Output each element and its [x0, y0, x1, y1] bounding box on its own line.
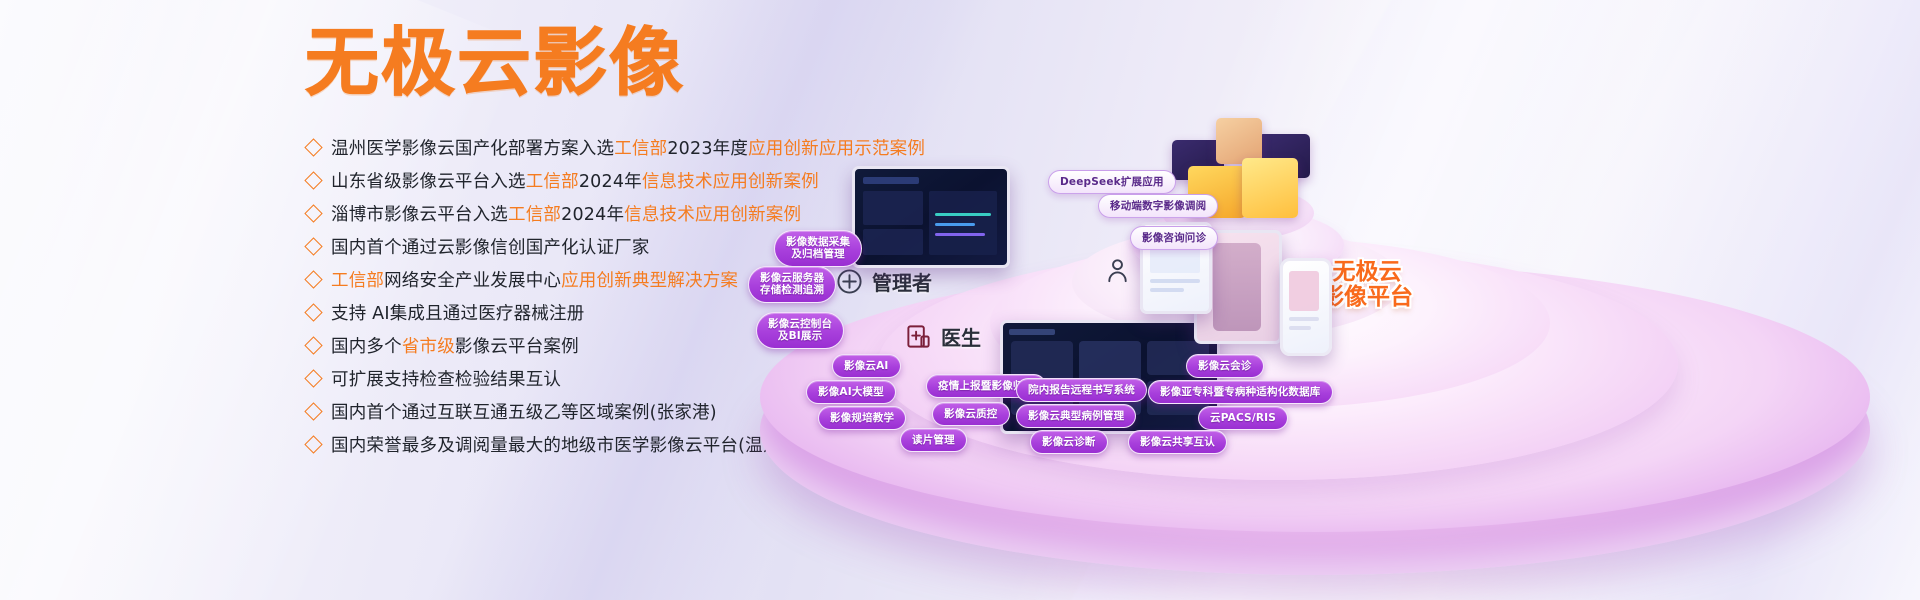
pill-deepseek[interactable]: DeepSeek扩展应用 [1048, 170, 1176, 194]
achievement-text: 国内首个通过互联互通五级乙等区域案例(张家港) [331, 399, 717, 424]
diamond-bullet-icon [304, 369, 322, 387]
diamond-bullet-icon [304, 138, 322, 156]
pill-data-collect[interactable]: 影像数据采集 及归档管理 [774, 230, 862, 267]
text-segment: 2024年 [561, 205, 624, 225]
pill-label-line-1: 云PACS/RIS [1210, 412, 1276, 424]
pill-label-line-1: 影像云质控 [944, 408, 998, 420]
pill-label-line-1: 院内报告远程书写系统 [1028, 384, 1135, 396]
page-title: 无极云影像 [305, 26, 685, 100]
stack-building-right-icon [1242, 158, 1298, 218]
platform-architecture-diagram: 无极云 影像平台 管理者 患者 医生 [700, 130, 1920, 600]
pill-label-line-2: 及归档管理 [786, 248, 850, 260]
achievement-text: 国内多个省市级影像云平台案例 [331, 333, 579, 358]
pill-cloud-ai[interactable]: 影像云AI [832, 354, 901, 378]
achievement-text: 国内首个通过云影像信创国产化认证厂家 [331, 234, 650, 259]
text-segment: 工信部 [331, 271, 384, 291]
diamond-bullet-icon [304, 435, 322, 453]
doctor-record-icon [905, 323, 932, 350]
pill-server-trace[interactable]: 影像云服务器 存储检测追溯 [748, 266, 836, 303]
text-segment: 国内首个通过云影像信创国产化认证厂家 [331, 238, 650, 258]
pill-label-line-1: 影像云控制台 [768, 318, 832, 330]
pill-label-line-1: 影像云服务器 [760, 272, 824, 284]
pill-label-line-1: 影像云会诊 [1198, 360, 1252, 372]
text-segment: 支持 AI集成且通过医疗器械注册 [331, 304, 584, 324]
text-segment: 国内首个通过互联互通五级乙等区域案例(张家港) [331, 403, 717, 423]
pill-label-line-2: 存储检测追溯 [760, 284, 824, 296]
pill-diagnosis[interactable]: 影像云诊断 [1030, 430, 1108, 454]
text-segment: 淄博市影像云平台入选 [331, 205, 508, 225]
center-label-line-2: 影像平台 [1321, 284, 1413, 310]
pill-quality-control[interactable]: 影像云质控 [932, 402, 1010, 426]
pill-share-mutual[interactable]: 影像云共享互认 [1128, 430, 1227, 454]
pill-label-line-1: DeepSeek扩展应用 [1060, 176, 1164, 188]
role-label: 医生 [941, 322, 981, 351]
achievement-text: 支持 AI集成且通过医疗器械注册 [331, 300, 584, 325]
text-segment: 影像云平台案例 [455, 337, 579, 357]
pill-case-manage[interactable]: 影像云典型病例管理 [1016, 404, 1136, 428]
text-segment: 2024年 [579, 172, 642, 192]
diamond-bullet-icon [304, 204, 322, 222]
center-label-line-1: 无极云 [1333, 259, 1402, 285]
pill-label-line-1: 影像咨询问诊 [1142, 232, 1206, 244]
pill-label-line-1: 影像AI大模型 [818, 386, 884, 398]
pill-pacs-ris[interactable]: 云PACS/RIS [1198, 406, 1288, 430]
diamond-bullet-icon [304, 270, 322, 288]
pill-remote-report[interactable]: 院内报告远程书写系统 [1016, 378, 1147, 402]
achievement-text: 工信部网络安全产业发展中心应用创新典型解决方案 [331, 267, 738, 292]
text-segment: 温州医学影像云国产化部署方案入选 [331, 139, 614, 159]
text-segment: 工信部 [508, 205, 561, 225]
pill-label-line-1: 影像云典型病例管理 [1028, 410, 1124, 422]
text-segment: 工信部 [526, 172, 579, 192]
admin-plus-icon [836, 268, 863, 295]
pill-joint-consult[interactable]: 影像云会诊 [1186, 354, 1264, 378]
pill-ai-model[interactable]: 影像AI大模型 [806, 380, 896, 404]
pill-label-line-1: 影像规培教学 [830, 412, 894, 424]
banner-stage: 无极云影像 温州医学影像云国产化部署方案入选工信部2023年度应用创新应用示范案… [0, 0, 1920, 600]
role-doctor[interactable]: 医生 [905, 322, 981, 351]
diamond-bullet-icon [304, 303, 322, 321]
text-segment: 省市级 [402, 337, 455, 357]
pill-consult[interactable]: 影像咨询问诊 [1130, 226, 1218, 250]
pill-mobile-view[interactable]: 移动端数字影像调阅 [1098, 194, 1218, 218]
pill-label-line-1: 影像数据采集 [786, 236, 850, 248]
role-label: 管理者 [872, 267, 932, 296]
pill-subspecialty-db[interactable]: 影像亚专科暨专病种适构化数据库 [1148, 380, 1333, 404]
pill-label-line-1: 影像亚专科暨专病种适构化数据库 [1160, 386, 1321, 398]
pill-label-line-2: 及BI展示 [768, 330, 832, 342]
pill-label-line-1: 读片管理 [912, 434, 955, 446]
pill-label-line-1: 影像云共享互认 [1140, 436, 1215, 448]
pill-label-line-1: 影像云诊断 [1042, 436, 1096, 448]
mobile-phone-mockup [1280, 258, 1332, 356]
text-segment: 网络安全产业发展中心 [384, 271, 561, 291]
pill-teaching[interactable]: 影像规培教学 [818, 406, 906, 430]
pill-label-line-1: 影像云AI [844, 360, 889, 372]
dashboard-screen-mockup [852, 166, 1010, 268]
text-segment: 工信部 [614, 139, 667, 159]
diamond-bullet-icon [304, 336, 322, 354]
achievement-text: 可扩展支持检查检验结果互认 [331, 366, 561, 391]
text-segment: 山东省级影像云平台入选 [331, 172, 526, 192]
patient-person-icon [1104, 257, 1131, 284]
role-administrator[interactable]: 管理者 [836, 267, 932, 296]
pill-label-line-1: 移动端数字影像调阅 [1110, 200, 1206, 212]
diamond-bullet-icon [304, 402, 322, 420]
pill-console-bi[interactable]: 影像云控制台 及BI展示 [756, 312, 844, 349]
text-segment: 可扩展支持检查检验结果互认 [331, 370, 561, 390]
pill-read-manage[interactable]: 读片管理 [900, 428, 967, 452]
diamond-bullet-icon [304, 171, 322, 189]
diamond-bullet-icon [304, 237, 322, 255]
text-segment: 国内多个 [331, 337, 402, 357]
